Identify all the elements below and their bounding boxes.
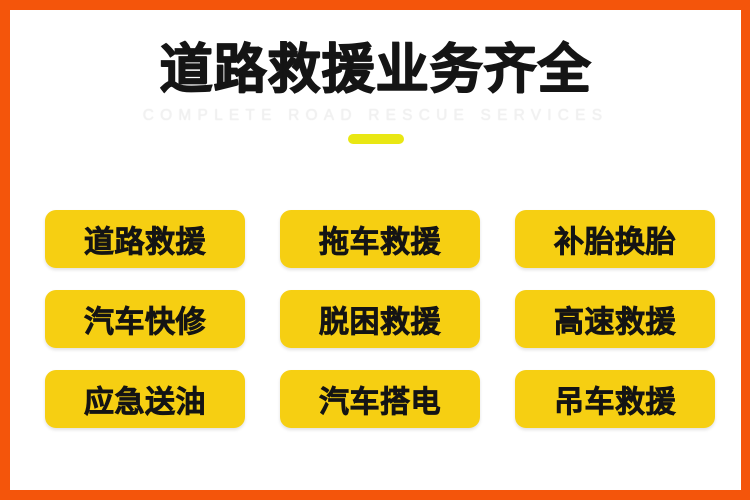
- poster-frame: 道路救援业务齐全 COMPLETE ROAD RESCUE SERVICES 道…: [0, 0, 750, 500]
- service-chip-road-rescue[interactable]: 道路救援: [45, 210, 245, 268]
- service-chip-label: 吊车救援: [554, 377, 676, 421]
- service-chip-highway-rescue[interactable]: 高速救援: [515, 290, 715, 348]
- page-title: 道路救援业务齐全: [10, 42, 741, 98]
- service-chip-label: 脱困救援: [319, 297, 441, 341]
- service-chip-label: 应急送油: [84, 377, 206, 421]
- service-chip-label: 拖车救援: [319, 217, 441, 261]
- page-subtitle: COMPLETE ROAD RESCUE SERVICES: [10, 107, 741, 125]
- service-chip-label: 汽车搭电: [319, 377, 441, 421]
- service-chip-label: 汽车快修: [84, 297, 206, 341]
- service-chip-label: 高速救援: [554, 297, 676, 341]
- service-chip-label: 道路救援: [84, 217, 206, 261]
- service-chip-extraction-rescue[interactable]: 脱困救援: [280, 290, 480, 348]
- service-chip-label: 补胎换胎: [554, 217, 676, 261]
- service-chip-crane-rescue[interactable]: 吊车救援: [515, 370, 715, 428]
- service-chip-tow-rescue[interactable]: 拖车救援: [280, 210, 480, 268]
- accent-divider: [10, 134, 741, 144]
- service-chip-tire-repair-change[interactable]: 补胎换胎: [515, 210, 715, 268]
- service-chip-quick-car-repair[interactable]: 汽车快修: [45, 290, 245, 348]
- service-chip-jump-start[interactable]: 汽车搭电: [280, 370, 480, 428]
- header-block: 道路救援业务齐全 COMPLETE ROAD RESCUE SERVICES: [10, 42, 741, 144]
- service-grid: 道路救援 拖车救援 补胎换胎 汽车快修 脱困救援 高速救援 应急送油 汽车搭电: [41, 210, 719, 428]
- service-chip-emergency-fuel[interactable]: 应急送油: [45, 370, 245, 428]
- poster-canvas: 道路救援业务齐全 COMPLETE ROAD RESCUE SERVICES 道…: [10, 10, 741, 490]
- accent-bar: [348, 134, 404, 144]
